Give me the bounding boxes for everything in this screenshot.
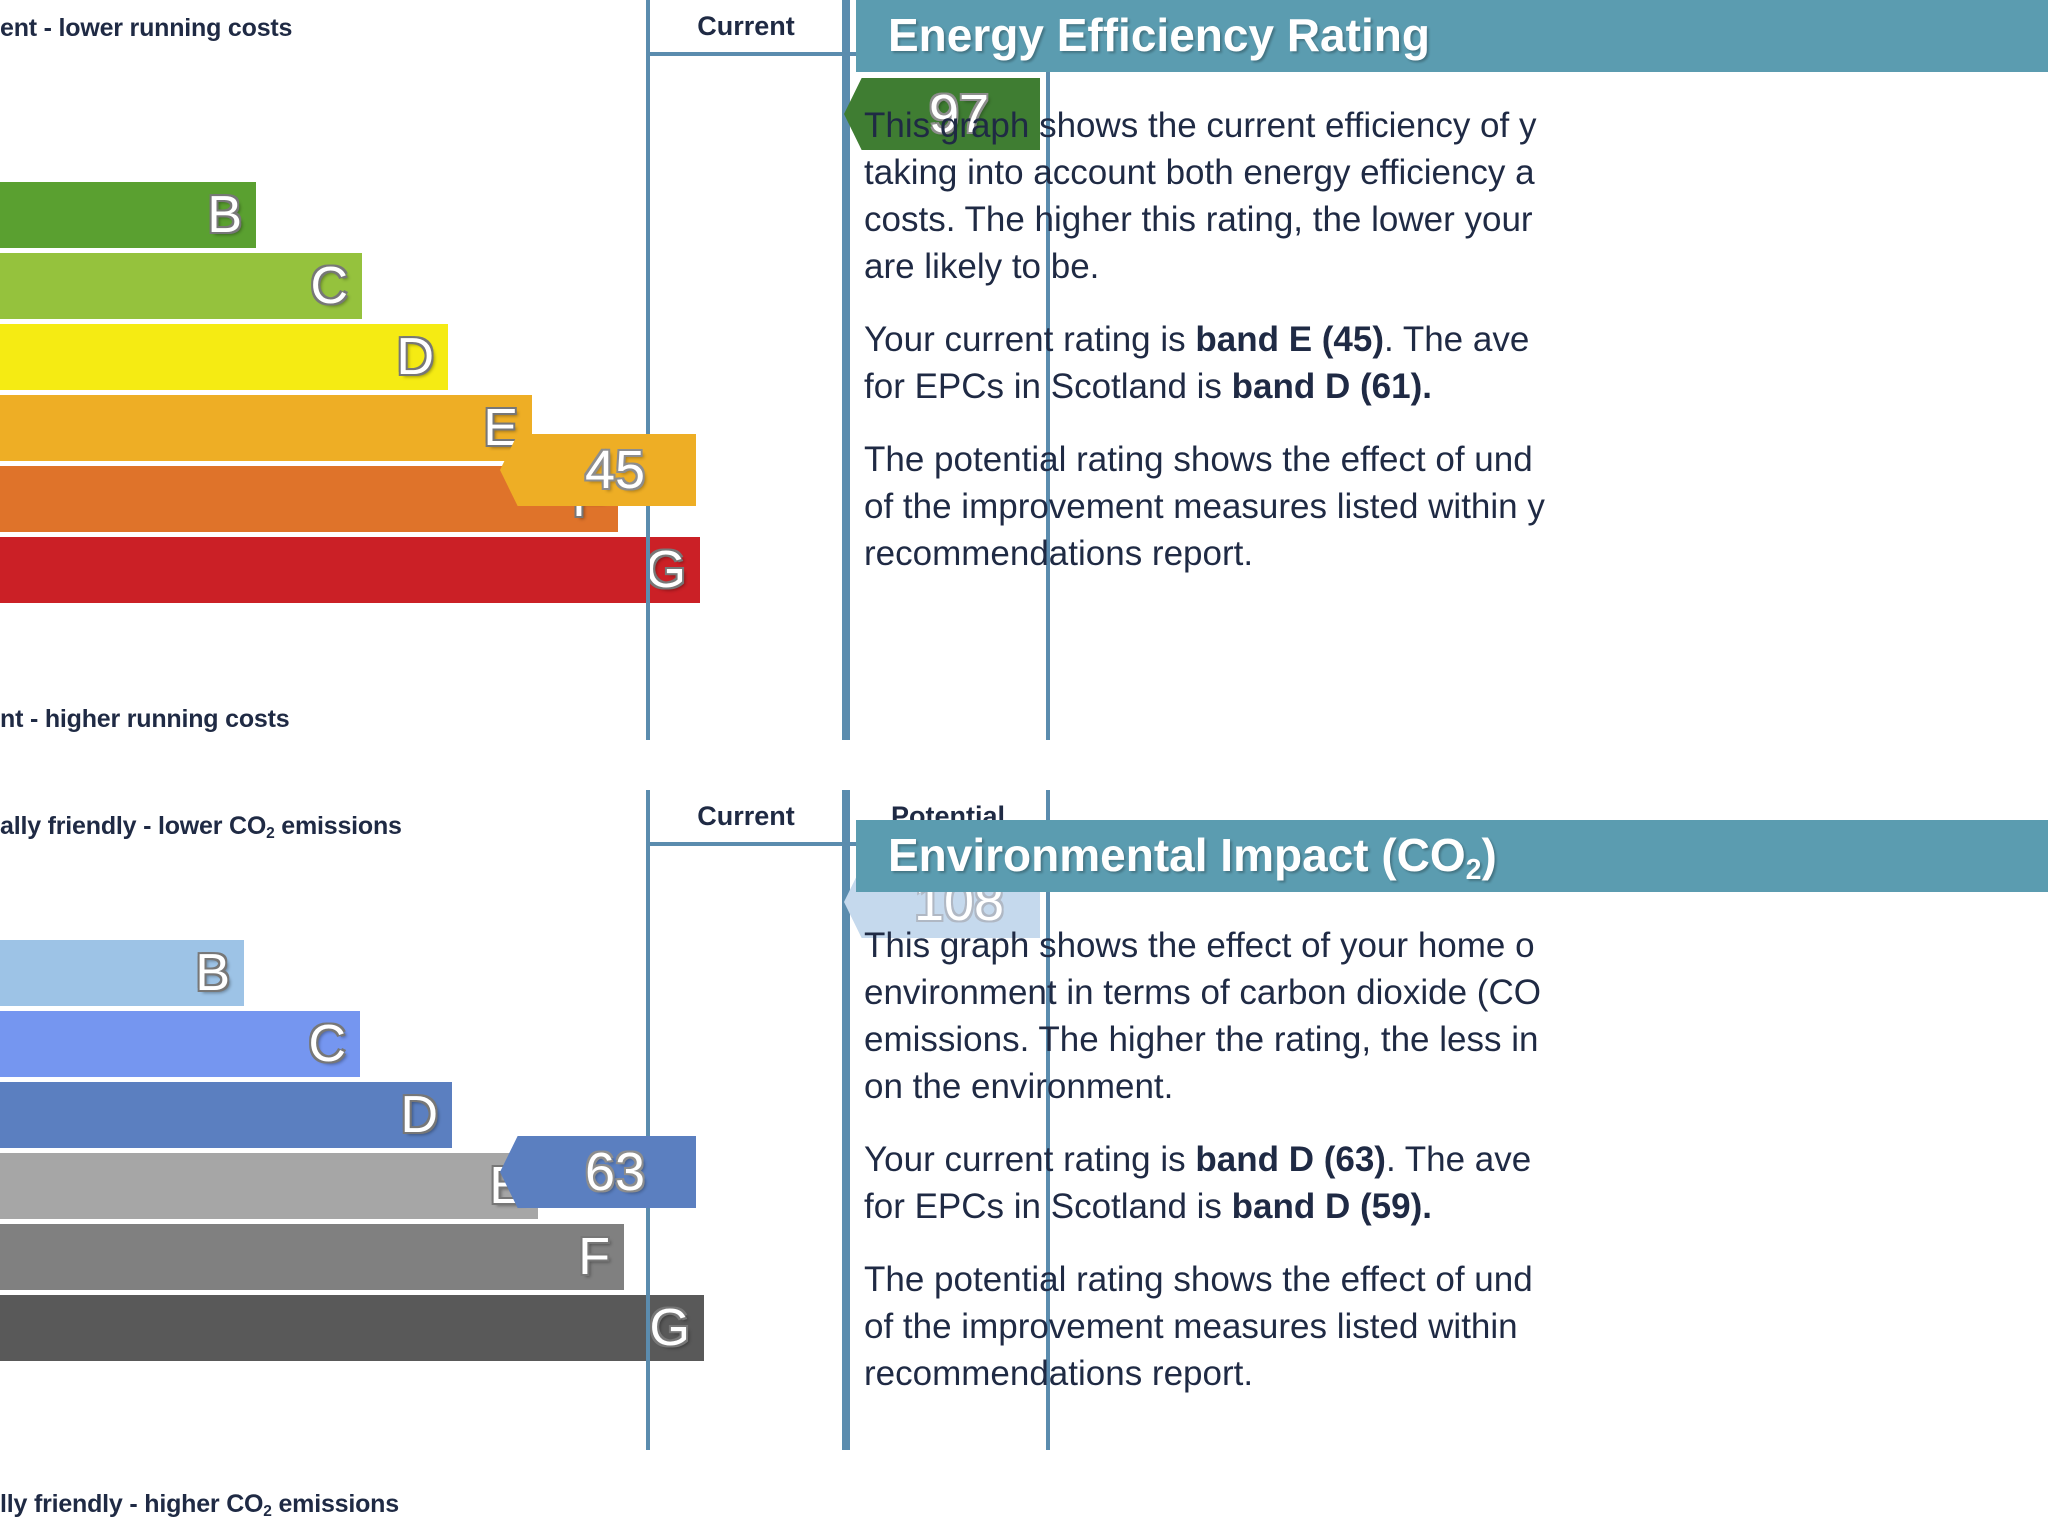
- environmental-current-header: Current: [650, 790, 842, 846]
- average-rating-prefix: for EPCs in Scotland is: [864, 1187, 1232, 1226]
- efficiency-current-badge: 45: [500, 434, 696, 506]
- environmental-current-body: 63: [650, 846, 842, 1450]
- efficiency-paragraph-3: The potential rating shows the effect of…: [864, 436, 2048, 577]
- epc-certificate-page: ent - lower running costs B C D E F: [0, 0, 2048, 1536]
- band-B: B: [0, 182, 256, 248]
- band-D: D: [0, 1082, 452, 1148]
- environmental-paragraph-3: The potential rating shows the effect of…: [864, 1256, 2048, 1397]
- band-letter: D: [396, 327, 434, 387]
- efficiency-info-panel: Energy Efficiency Rating This graph show…: [856, 0, 2048, 577]
- co2-subscript: 2: [263, 1503, 271, 1520]
- average-rating-band: band D (61).: [1232, 367, 1432, 406]
- current-rating-suffix: . The ave: [1386, 1140, 1531, 1179]
- band-E: E: [0, 395, 532, 461]
- band-letter: B: [195, 943, 230, 1003]
- efficiency-paragraph-1: This graph shows the current efficiency …: [864, 102, 2048, 290]
- current-rating-prefix: Your current rating is: [864, 320, 1195, 359]
- efficiency-current-body: 45: [650, 56, 842, 740]
- band-D: D: [0, 324, 448, 390]
- efficiency-panel-body: This graph shows the current efficiency …: [856, 102, 2048, 577]
- environmental-paragraph-1: This graph shows the effect of your home…: [864, 922, 2048, 1110]
- co2-subscript: 2: [266, 825, 274, 842]
- band-G: G: [0, 537, 700, 603]
- band-C: C: [0, 1011, 360, 1077]
- environmental-bottom-legend: lly friendly - higher CO2 emissions: [0, 1490, 399, 1519]
- band-G: G: [0, 1295, 704, 1361]
- efficiency-paragraph-2: Your current rating is band E (45). The …: [864, 316, 2048, 410]
- environmental-current-badge: 63: [500, 1136, 696, 1208]
- band-letter: B: [207, 185, 242, 245]
- average-rating-band: band D (59).: [1232, 1187, 1432, 1226]
- environmental-impact-block: ally friendly - lower CO2 emissions B C …: [0, 790, 2048, 1536]
- environmental-graph: ally friendly - lower CO2 emissions B C …: [0, 790, 500, 1536]
- band-letter: D: [400, 1085, 438, 1145]
- efficiency-current-header: Current: [650, 0, 842, 56]
- co2-subscript: 2: [1466, 854, 1482, 886]
- environmental-top-legend: ally friendly - lower CO2 emissions: [0, 812, 402, 841]
- efficiency-graph: ent - lower running costs B C D E F: [0, 0, 500, 740]
- efficiency-top-legend: ent - lower running costs: [0, 14, 292, 43]
- environmental-paragraph-2: Your current rating is band D (63). The …: [864, 1136, 2048, 1230]
- current-rating-band: band D (63): [1195, 1140, 1386, 1179]
- band-F: F: [0, 1224, 624, 1290]
- environmental-current-column: Current 63: [646, 790, 846, 1450]
- current-rating-band: band E (45): [1195, 320, 1384, 359]
- environmental-info-panel: Environmental Impact (CO2) This graph sh…: [856, 820, 2048, 1397]
- current-rating-prefix: Your current rating is: [864, 1140, 1195, 1179]
- current-rating-suffix: . The ave: [1384, 320, 1529, 359]
- environmental-panel-body: This graph shows the effect of your home…: [856, 922, 2048, 1397]
- band-letter: C: [308, 1014, 346, 1074]
- efficiency-current-value: 45: [585, 439, 645, 501]
- environmental-panel-title: Environmental Impact (CO2): [856, 820, 2048, 892]
- band-B: B: [0, 940, 244, 1006]
- band-letter: C: [310, 256, 348, 316]
- efficiency-panel-title: Energy Efficiency Rating: [856, 0, 2048, 72]
- environmental-current-value: 63: [585, 1141, 645, 1203]
- band-letter: F: [578, 1227, 610, 1287]
- efficiency-bottom-legend: nt - higher running costs: [0, 705, 289, 734]
- efficiency-current-column: Current 45: [646, 0, 846, 740]
- band-C: C: [0, 253, 362, 319]
- average-rating-prefix: for EPCs in Scotland is: [864, 367, 1232, 406]
- energy-efficiency-rating-block: ent - lower running costs B C D E F: [0, 0, 2048, 740]
- band-E: E: [0, 1153, 538, 1219]
